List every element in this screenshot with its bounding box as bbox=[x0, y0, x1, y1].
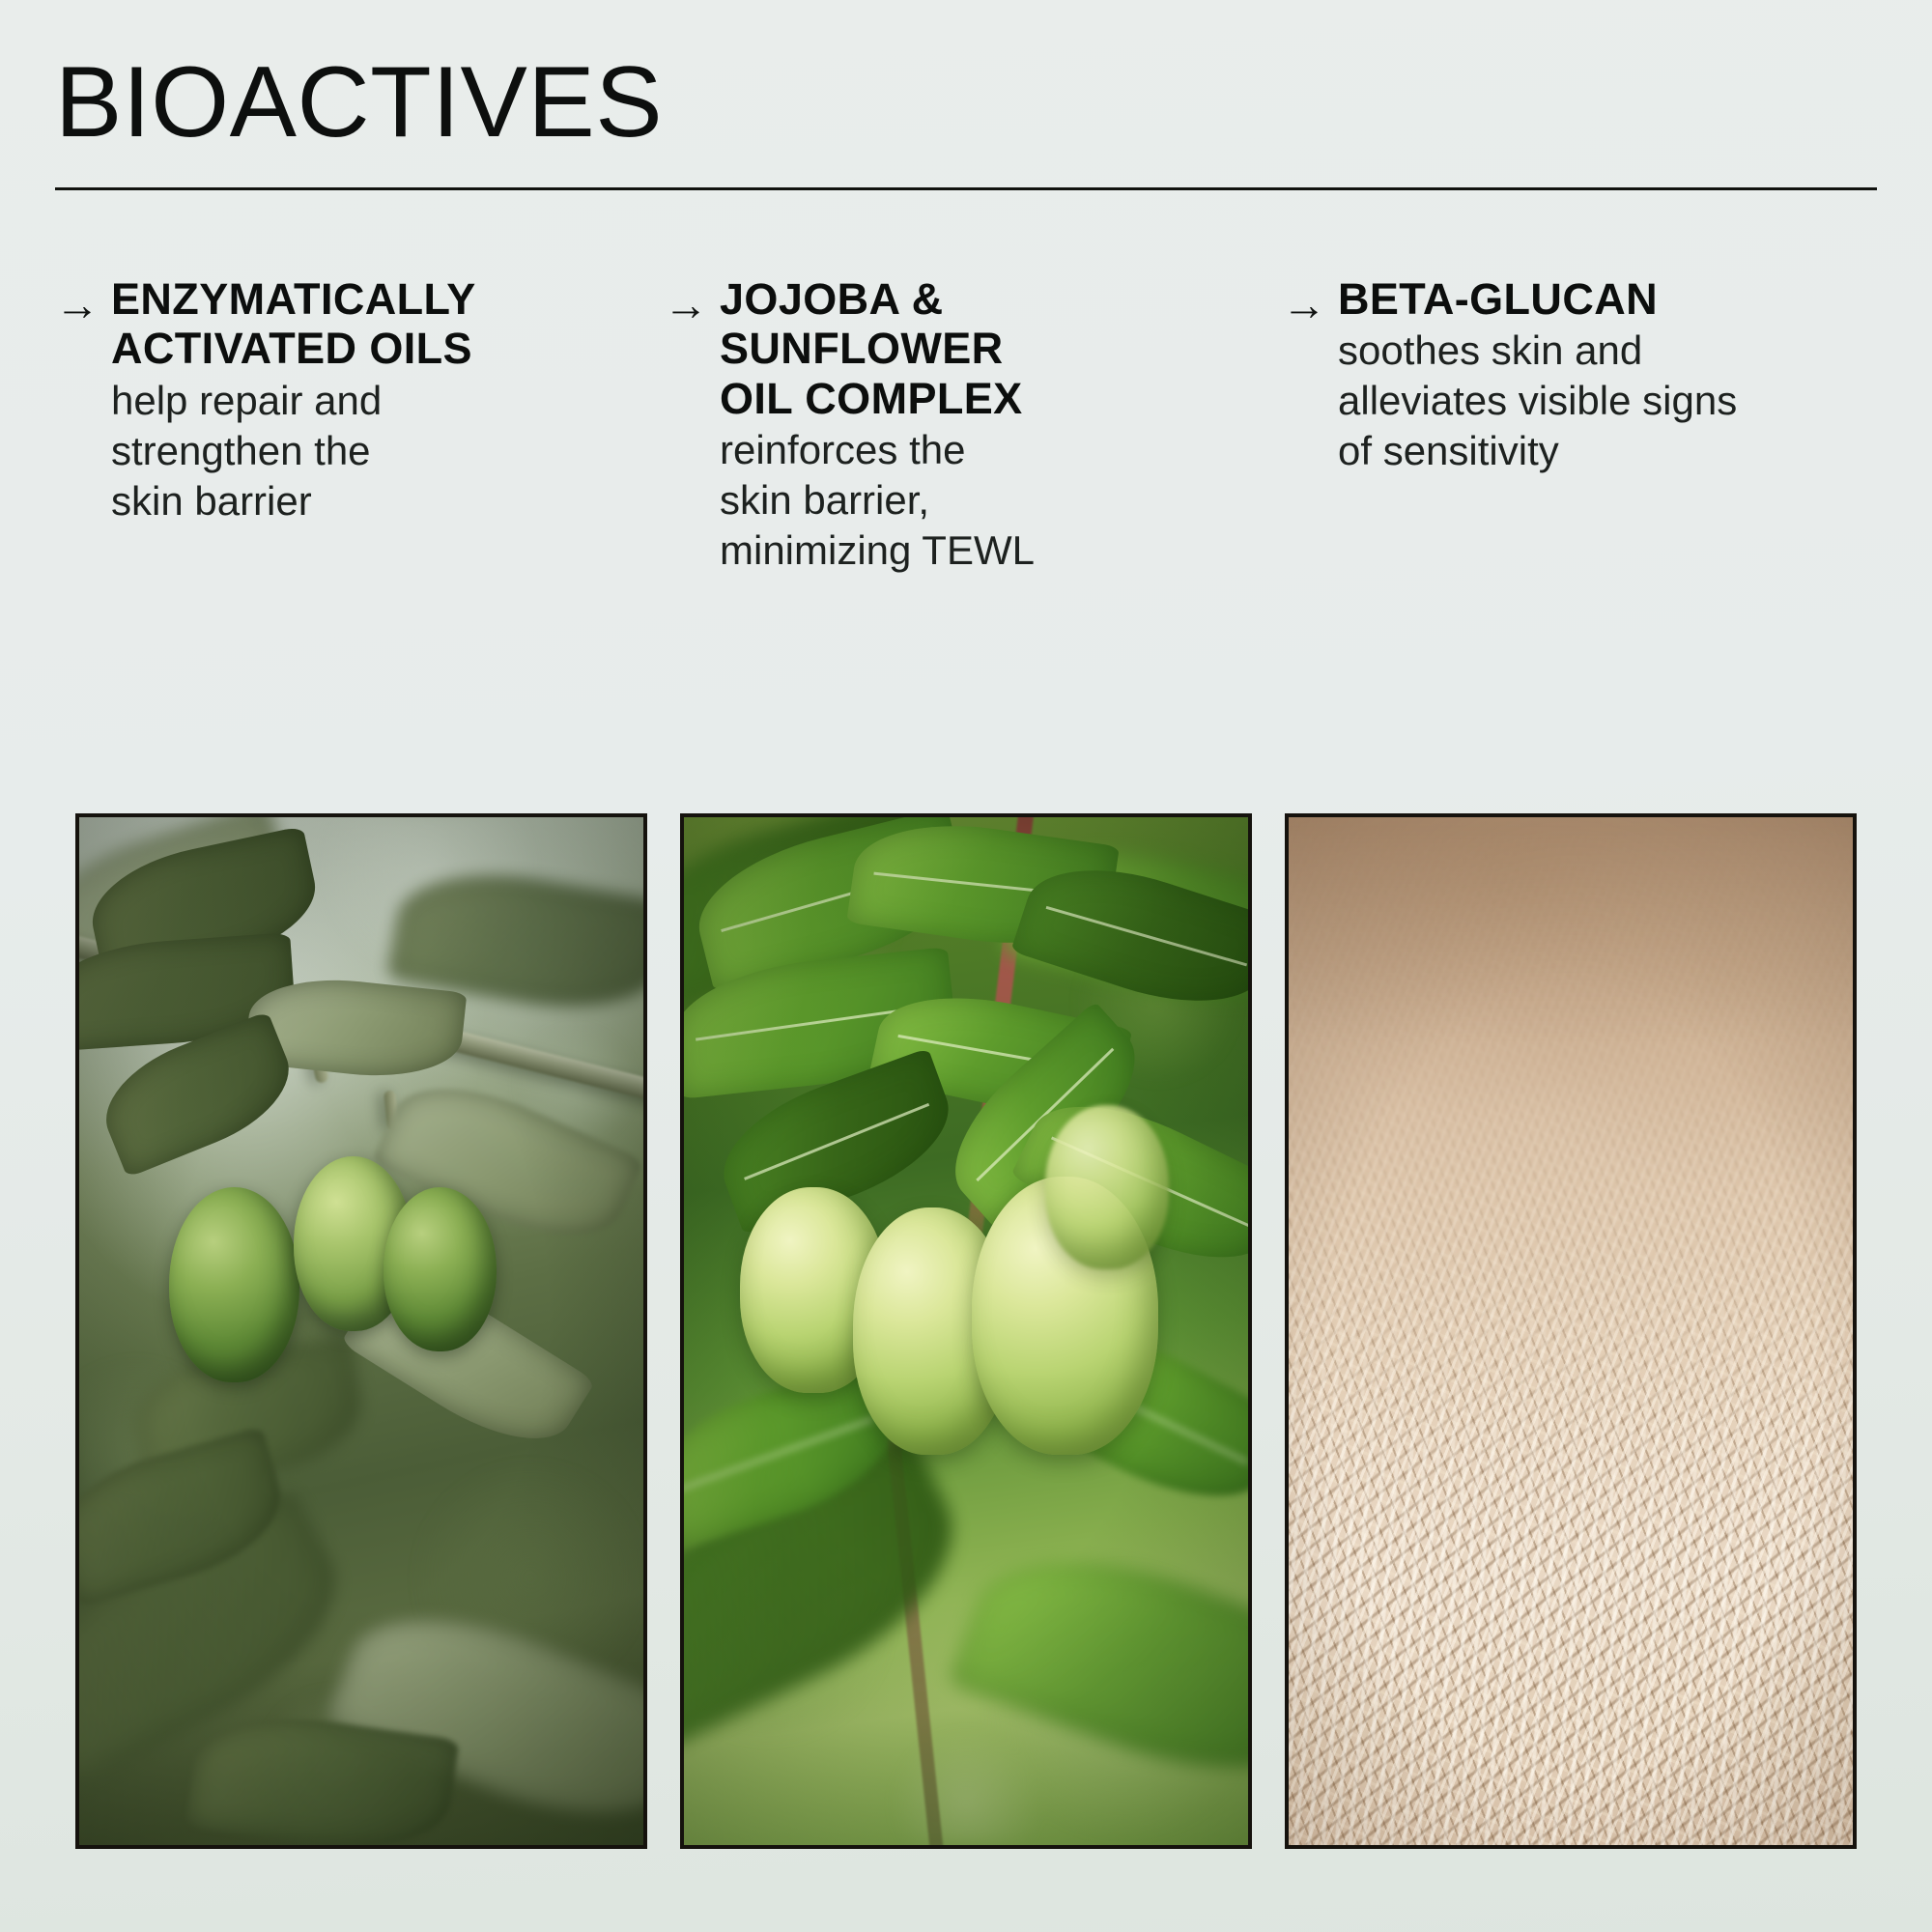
heading-line: BETA-GLUCAN bbox=[1338, 274, 1863, 324]
heading-line: ENZYMATICALLY bbox=[111, 274, 646, 324]
description-line: help repair and bbox=[111, 376, 646, 426]
photo-vignette bbox=[1289, 817, 1853, 1845]
infographic-page: BIOACTIVES → ENZYMATICALLY ACTIVATED OIL… bbox=[0, 0, 1932, 1932]
bioactive-content: BETA-GLUCAN soothes skin and alleviates … bbox=[1338, 274, 1881, 477]
heading-line: SUNFLOWER bbox=[720, 324, 1264, 373]
description-line: minimizing TEWL bbox=[720, 526, 1264, 576]
title-divider bbox=[55, 187, 1877, 190]
photo-vignette bbox=[79, 817, 643, 1845]
arrow-right-icon: → bbox=[1282, 274, 1338, 330]
bioactive-item-beta-glucan: → BETA-GLUCAN soothes skin and alleviate… bbox=[1282, 274, 1881, 576]
bioactive-description: soothes skin and alleviates visible sign… bbox=[1338, 326, 1863, 476]
bioactive-content: ENZYMATICALLY ACTIVATED OILS help repair… bbox=[111, 274, 664, 526]
description-line: skin barrier bbox=[111, 476, 646, 526]
bioactive-description: help repair and strengthen the skin barr… bbox=[111, 376, 646, 526]
photo-vignette bbox=[684, 817, 1248, 1845]
beta-glucan-granules-photo bbox=[1285, 813, 1857, 1849]
description-line: skin barrier, bbox=[720, 475, 1264, 526]
description-line: alleviates visible signs bbox=[1338, 376, 1863, 426]
olive-branch-photo bbox=[75, 813, 647, 1849]
header: BIOACTIVES bbox=[55, 50, 1877, 190]
description-line: strengthen the bbox=[111, 426, 646, 476]
bioactive-heading: ENZYMATICALLY ACTIVATED OILS bbox=[111, 274, 646, 374]
jojoba-fruit-photo bbox=[680, 813, 1252, 1849]
heading-line: ACTIVATED OILS bbox=[111, 324, 646, 373]
page-title: BIOACTIVES bbox=[55, 50, 1877, 156]
bioactive-description: reinforces the skin barrier, minimizing … bbox=[720, 425, 1264, 576]
bioactive-item-enzymatically-activated-oils: → ENZYMATICALLY ACTIVATED OILS help repa… bbox=[55, 274, 664, 576]
photo-strip bbox=[75, 813, 1857, 1849]
bioactives-columns: → ENZYMATICALLY ACTIVATED OILS help repa… bbox=[55, 274, 1881, 576]
bioactive-heading: JOJOBA & SUNFLOWER OIL COMPLEX bbox=[720, 274, 1264, 423]
description-line: soothes skin and bbox=[1338, 326, 1863, 376]
description-line: reinforces the bbox=[720, 425, 1264, 475]
arrow-right-icon: → bbox=[55, 274, 111, 330]
heading-line: JOJOBA & bbox=[720, 274, 1264, 324]
description-line: of sensitivity bbox=[1338, 426, 1863, 476]
heading-line: OIL COMPLEX bbox=[720, 374, 1264, 423]
arrow-right-icon: → bbox=[664, 274, 720, 330]
bioactive-content: JOJOBA & SUNFLOWER OIL COMPLEX reinforce… bbox=[720, 274, 1282, 576]
bioactive-heading: BETA-GLUCAN bbox=[1338, 274, 1863, 324]
bioactive-item-jojoba-sunflower-oil-complex: → JOJOBA & SUNFLOWER OIL COMPLEX reinfor… bbox=[664, 274, 1282, 576]
